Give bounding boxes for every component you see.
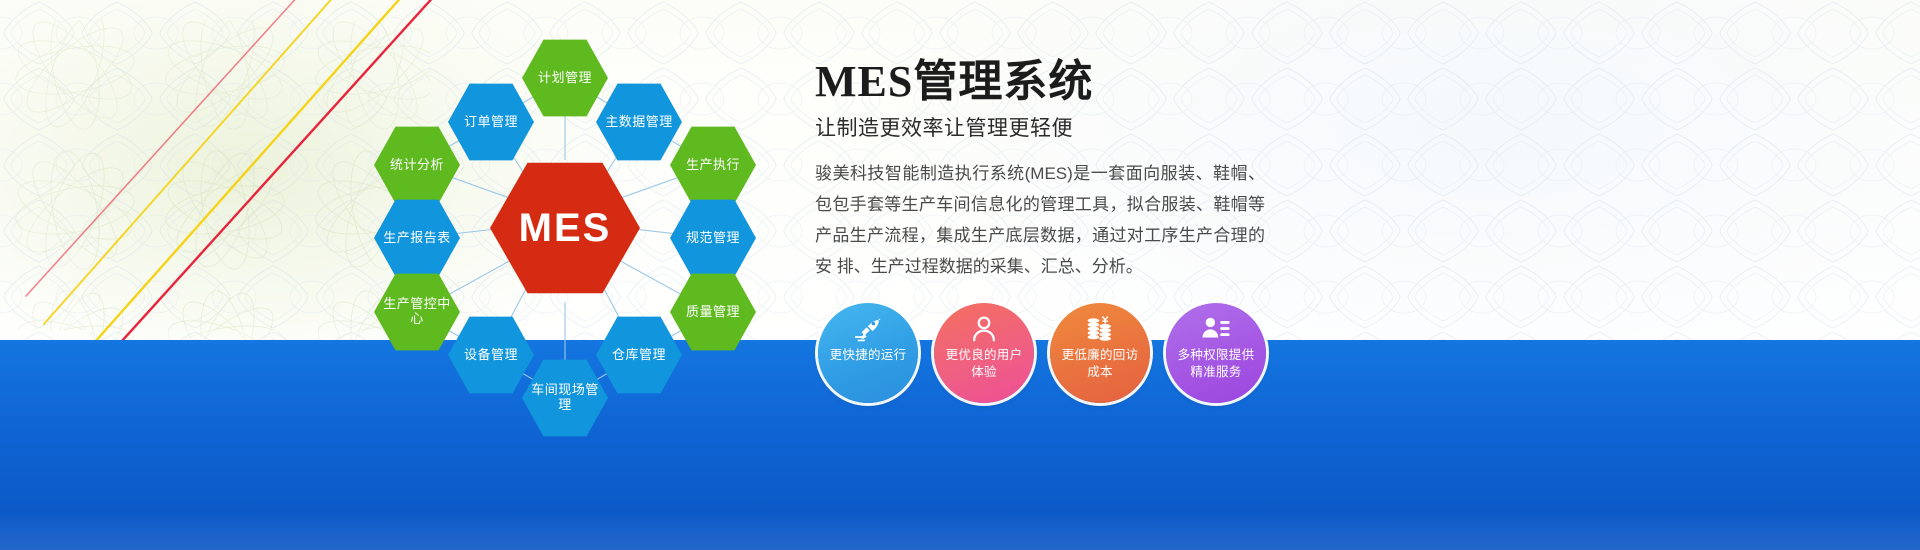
hex-node-label: 车间现场管理 (522, 383, 608, 413)
mes-hero-banner: MES 计划管理 订单管理 主数据管理 统计分析 生产执行 生产报告表 规范管理… (0, 0, 1920, 550)
user-icon (969, 314, 999, 344)
feature-badge-label: 更优良的用户体验 (934, 347, 1034, 381)
coins-icon (1085, 314, 1115, 344)
hex-node-label: 质量管理 (682, 305, 744, 320)
mes-hexagon-diagram: MES 计划管理 订单管理 主数据管理 统计分析 生产执行 生产报告表 规范管理… (300, 10, 820, 440)
hex-node-label: 规范管理 (682, 231, 744, 246)
hex-node-label: 生产报告表 (379, 231, 455, 246)
page-subtitle: 让制造更效率让管理更轻便 (815, 112, 1435, 142)
feature-badge-2[interactable]: 更低廉的回访成本 (1050, 303, 1150, 403)
feature-badge-3[interactable]: 多种权限提供精准服务 (1166, 303, 1266, 403)
rocket-icon (853, 314, 883, 344)
feature-badge-1[interactable]: 更优良的用户体验 (934, 303, 1034, 403)
page-title: MES管理系统 (815, 58, 1435, 106)
hex-center-label: MES (515, 205, 616, 251)
hex-node-label: 计划管理 (534, 71, 596, 86)
hero-text-column: MES管理系统 让制造更效率让管理更轻便 骏美科技智能制造执行系统(MES)是一… (815, 58, 1435, 282)
hex-node-label: 统计分析 (386, 158, 448, 173)
description-paragraph: 骏美科技智能制造执行系统(MES)是一套面向服装、鞋帽、包包手套等生产车间信息化… (815, 158, 1265, 282)
feature-badge-label: 更低廉的回访成本 (1050, 347, 1150, 381)
hex-node-label: 仓库管理 (608, 348, 670, 363)
user-list-icon (1201, 314, 1231, 344)
hex-node-label: 生产执行 (682, 158, 744, 173)
feature-badge-label: 多种权限提供精准服务 (1166, 347, 1266, 381)
hex-node-label: 设备管理 (460, 348, 522, 363)
feature-badge-0[interactable]: 更快捷的运行 (818, 303, 918, 403)
feature-badge-label: 更快捷的运行 (823, 347, 914, 364)
hex-node-label: 主数据管理 (601, 115, 677, 130)
feature-badge-row: 更快捷的运行 更优良的用户体验 (818, 303, 1266, 403)
hex-node-label: 订单管理 (460, 115, 522, 130)
hex-node-label: 生产管控中心 (374, 297, 460, 327)
